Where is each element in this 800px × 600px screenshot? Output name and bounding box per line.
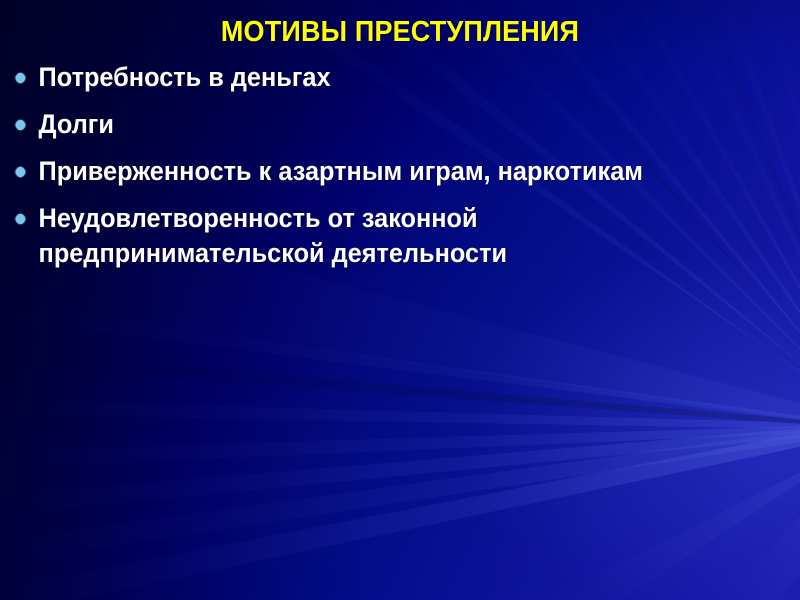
presentation-slide: МОТИВЫ ПРЕСТУПЛЕНИЯ Потребность в деньга… <box>0 0 800 600</box>
bullet-text: Неудовлетворенность от законной предприн… <box>39 201 734 271</box>
list-item: Неудовлетворенность от законной предприн… <box>8 201 734 271</box>
diamond-bullet-icon <box>14 71 28 85</box>
diamond-bullet-icon <box>14 212 28 226</box>
bullet-text: Потребность в деньгах <box>39 60 734 95</box>
bullet-text: Приверженность к азартным играм, наркоти… <box>39 154 734 189</box>
slide-title: МОТИВЫ ПРЕСТУПЛЕНИЯ <box>28 17 772 49</box>
list-item: Приверженность к азартным играм, наркоти… <box>8 154 734 189</box>
bullet-text: Долги <box>39 107 734 142</box>
diamond-bullet-icon <box>14 118 28 132</box>
bullet-list: Потребность в деньгах Долги Приверженнос… <box>8 60 768 271</box>
list-item: Потребность в деньгах <box>8 60 734 95</box>
diamond-bullet-icon <box>14 165 28 179</box>
slide-content: МОТИВЫ ПРЕСТУПЛЕНИЯ Потребность в деньга… <box>0 0 800 600</box>
list-item: Долги <box>8 107 734 142</box>
